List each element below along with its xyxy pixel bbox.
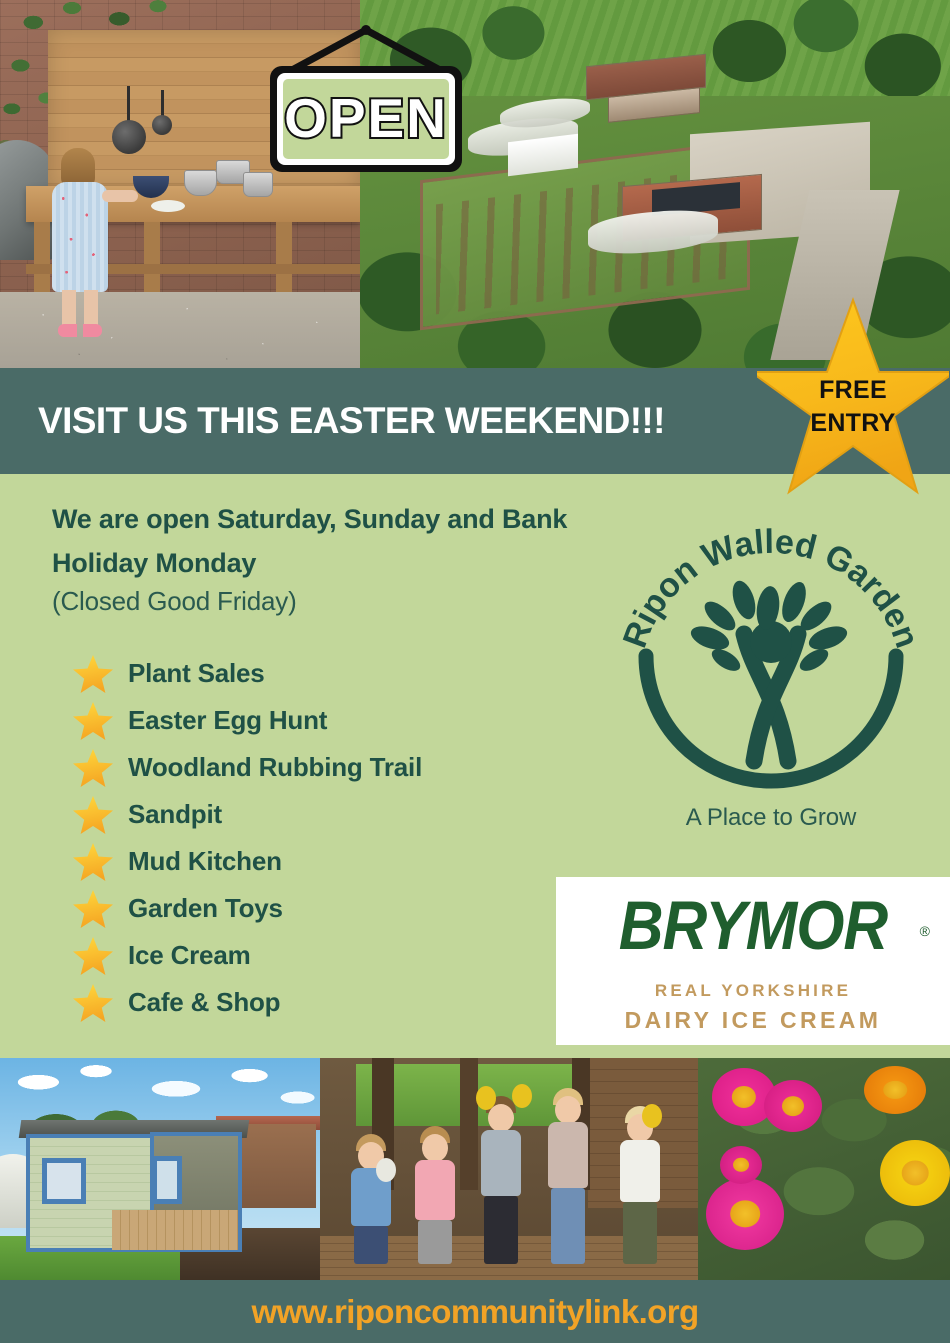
star-icon	[72, 935, 114, 977]
child-five	[608, 1104, 672, 1264]
feature-label: Plant Sales	[128, 658, 265, 689]
bottom-photo-band	[0, 1058, 950, 1280]
feature-list: Plant Sales Easter Egg Hunt Woodland Rub…	[72, 650, 422, 1026]
brymor-wordmark: BRYMOR	[556, 887, 950, 965]
pan-hook-large	[127, 86, 130, 122]
rubbing-card	[376, 1158, 396, 1182]
list-item: Cafe & Shop	[72, 979, 422, 1026]
child-two	[404, 1124, 466, 1264]
registered-mark-icon: ®	[920, 923, 930, 939]
star-icon	[72, 747, 114, 789]
feature-label: Garden Toys	[128, 893, 283, 924]
feature-label: Easter Egg Hunt	[128, 705, 327, 736]
blue-wooden-playhouse-photo	[0, 1058, 320, 1280]
footer-bar: www.riponcommunitylink.org	[0, 1280, 950, 1343]
child-legs	[62, 290, 98, 326]
brymor-logo-panel: BRYMOR ® REAL YORKSHIRE DAIRY ICE CREAM	[556, 877, 950, 1045]
rubbing-card	[476, 1086, 496, 1110]
feature-label: Woodland Rubbing Trail	[128, 752, 422, 783]
star-icon	[72, 700, 114, 742]
child-legs	[418, 1220, 452, 1264]
list-item: Ice Cream	[72, 932, 422, 979]
child-legs	[484, 1196, 518, 1264]
easter-weekend-poster: OPEN VISIT US THIS EASTER WEEKEND!!! FRE…	[0, 0, 950, 1343]
frying-pan-small	[152, 115, 172, 135]
pink-primrose-bloom	[706, 1178, 784, 1250]
pink-and-yellow-primrose-flowers-photo	[698, 1058, 950, 1280]
child-floral-dress	[52, 182, 108, 292]
child-top	[415, 1160, 455, 1220]
frying-pan-large	[112, 120, 146, 154]
website-url[interactable]: www.riponcommunitylink.org	[251, 1293, 698, 1331]
child-one	[342, 1134, 400, 1264]
list-item: Woodland Rubbing Trail	[72, 744, 422, 791]
brymor-subline-1: REAL YORKSHIRE	[556, 981, 950, 1001]
playhouse-window-front	[42, 1158, 86, 1204]
playhouse-fence-panel	[112, 1210, 238, 1250]
gravel-ground	[0, 292, 360, 368]
list-item: Sandpit	[72, 791, 422, 838]
child-arm	[102, 190, 138, 202]
pink-primrose-bloom	[764, 1080, 822, 1132]
star-icon	[72, 794, 114, 836]
child-top	[548, 1122, 588, 1188]
feature-label: Cafe & Shop	[128, 987, 280, 1018]
child-three	[470, 1096, 532, 1264]
feature-label: Sandpit	[128, 799, 222, 830]
saucepan-two	[184, 170, 217, 196]
open-sign: OPEN	[258, 24, 474, 180]
star-icon	[72, 653, 114, 695]
closed-note-text: (Closed Good Friday)	[52, 586, 297, 617]
star-icon	[72, 982, 114, 1024]
brymor-subline-2: DAIRY ICE CREAM	[556, 1007, 950, 1034]
child-four	[536, 1088, 600, 1264]
logo-tagline: A Place to Grow	[616, 804, 926, 832]
orange-primrose-bloom	[864, 1066, 926, 1114]
list-item: Garden Toys	[72, 885, 422, 932]
rubbing-card	[642, 1104, 662, 1128]
list-item: Mud Kitchen	[72, 838, 422, 885]
feature-label: Ice Cream	[128, 940, 251, 971]
list-item: Plant Sales	[72, 650, 422, 697]
feature-label: Mud Kitchen	[128, 846, 282, 877]
open-days-text: We are open Saturday, Sunday and Bank Ho…	[52, 498, 592, 585]
free-entry-badge: FREE ENTRY	[757, 296, 949, 508]
child-legs	[623, 1202, 657, 1264]
child-top	[481, 1130, 521, 1196]
banner-headline: VISIT US THIS EASTER WEEKEND!!!	[0, 400, 665, 442]
yellow-primrose-bloom	[880, 1140, 950, 1206]
ripon-walled-garden-logo: Ripon Walled Garden	[616, 516, 926, 836]
child-head	[555, 1096, 581, 1124]
child-head	[422, 1134, 448, 1162]
star-icon	[72, 841, 114, 883]
children-holding-rubbing-trail-cards-photo	[320, 1058, 698, 1280]
pan-hook-small	[161, 90, 164, 118]
playhouse-window-side	[152, 1156, 182, 1204]
star-icon	[72, 888, 114, 930]
child-head	[488, 1104, 514, 1132]
list-item: Easter Egg Hunt	[72, 697, 422, 744]
child-legs	[551, 1188, 585, 1264]
child-legs	[354, 1226, 388, 1264]
rubbing-card	[512, 1084, 532, 1108]
child-shoes	[58, 324, 102, 337]
main-content: We are open Saturday, Sunday and Bank Ho…	[0, 474, 950, 1058]
star-shape	[757, 300, 949, 492]
child-top	[620, 1140, 660, 1202]
pink-primrose-bud	[720, 1146, 762, 1184]
white-plate	[151, 200, 185, 212]
